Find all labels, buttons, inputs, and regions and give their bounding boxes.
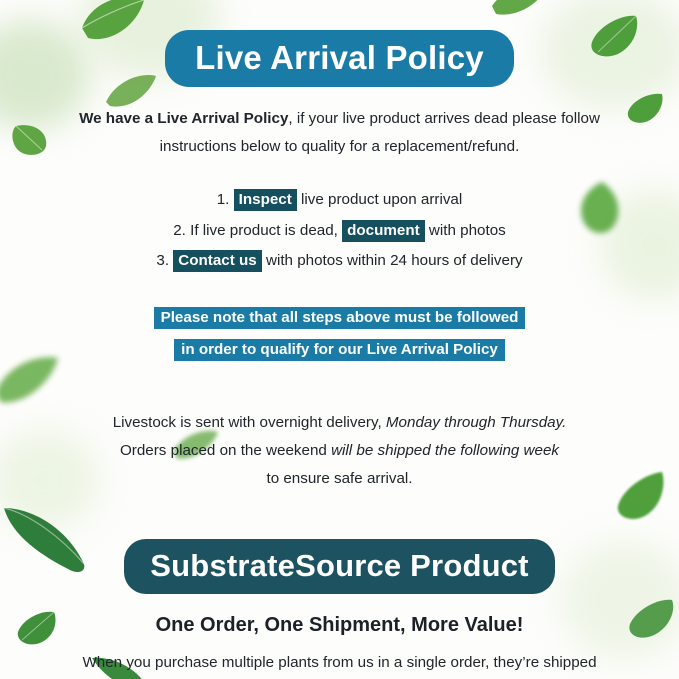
step-1-after: live product upon arrival	[297, 191, 462, 208]
shipping-line2-plain: Orders placed on the weekend	[120, 442, 331, 459]
step-2-after: with photos	[425, 222, 506, 239]
step-2-number: 2.	[173, 222, 186, 239]
product-description: When you purchase multiple plants from u…	[60, 649, 620, 679]
step-2-highlight: document	[342, 220, 425, 242]
step-3-highlight: Contact us	[173, 250, 261, 272]
shipping-schedule-paragraph: Livestock is sent with overnight deliver…	[60, 409, 620, 493]
policy-note-row-2: in order to qualify for our Live Arrival…	[0, 334, 679, 365]
step-3-number: 3.	[156, 252, 169, 269]
step-2-before: If live product is dead,	[190, 222, 342, 239]
policy-steps-list: 1. Inspect live product upon arrival 2. …	[0, 185, 679, 276]
live-arrival-policy-banner: Live Arrival Policy	[165, 30, 514, 87]
policy-note-line-1: Please note that all steps above must be…	[154, 307, 526, 329]
live-arrival-banner-row: Live Arrival Policy	[0, 0, 679, 87]
step-1-highlight: Inspect	[234, 189, 297, 211]
infographic-page: Live Arrival Policy We have a Live Arriv…	[0, 0, 679, 679]
policy-note-row-1: Please note that all steps above must be…	[0, 302, 679, 333]
product-section: SubstrateSource Product One Order, One S…	[0, 539, 679, 679]
product-tagline: One Order, One Shipment, More Value!	[0, 614, 679, 637]
substratesource-product-banner: SubstrateSource Product	[124, 539, 554, 594]
policy-note-line-2: in order to qualify for our Live Arrival…	[174, 339, 505, 361]
step-1-number: 1.	[217, 191, 230, 208]
policy-step-1: 1. Inspect live product upon arrival	[0, 185, 679, 215]
product-banner-row: SubstrateSource Product	[0, 539, 679, 594]
policy-step-3: 3. Contact us with photos within 24 hour…	[0, 246, 679, 276]
policy-intro-paragraph: We have a Live Arrival Policy, if your l…	[60, 105, 620, 161]
policy-intro-lead: We have a Live Arrival Policy	[79, 110, 288, 127]
policy-note-block: Please note that all steps above must be…	[0, 302, 679, 364]
shipping-line1-emphasis: Monday through Thursday.	[386, 414, 566, 431]
step-3-after: with photos within 24 hours of delivery	[262, 252, 523, 269]
shipping-line3: to ensure safe arrival.	[266, 470, 412, 487]
policy-step-2: 2. If live product is dead, document wit…	[0, 216, 679, 246]
shipping-line2-emphasis: will be shipped the following week	[331, 442, 559, 459]
shipping-line1-plain: Livestock is sent with overnight deliver…	[113, 414, 386, 431]
